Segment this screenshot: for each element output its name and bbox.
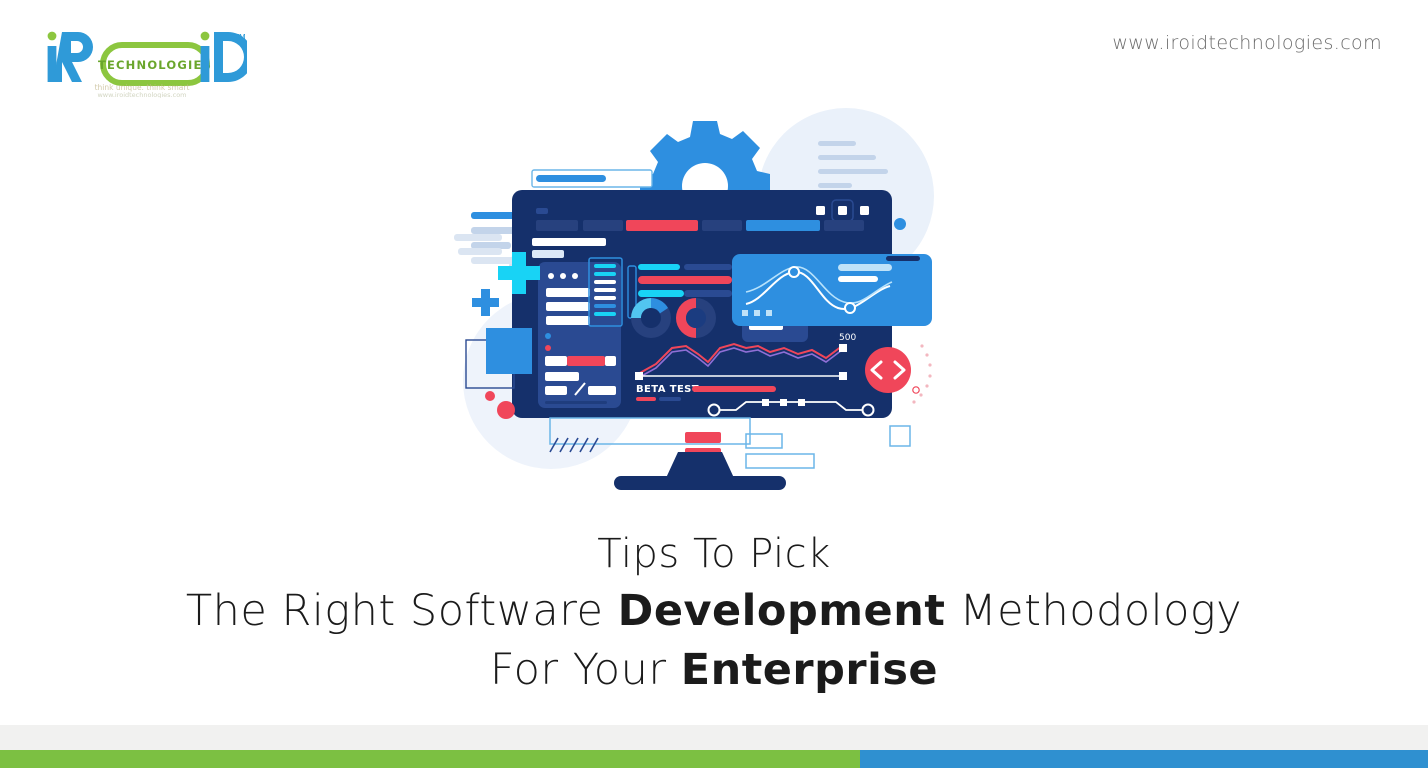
footer-bar-green <box>0 750 860 768</box>
logo-badge-text: TECHNOLOGIES <box>98 58 212 72</box>
screen-tag <box>536 208 548 214</box>
logo-tagline-2: www.iroidtechnologies.com <box>97 91 186 98</box>
page-title: Tips To Pick The Right Software Developm… <box>0 534 1428 692</box>
code-badge-icon <box>865 347 911 393</box>
chart-value-label: 500 <box>839 333 856 343</box>
footer-bar-blue <box>860 750 1428 768</box>
title-line-2-part-1: The Right Software <box>186 586 618 636</box>
decor-dot-right <box>894 218 906 230</box>
trademark-icon: TM <box>233 33 246 42</box>
decor-dot-small <box>485 391 495 401</box>
donut-chart-blue <box>631 298 671 338</box>
title-line-2-part-2: Methodology <box>945 586 1242 636</box>
analytics-panel <box>732 254 932 326</box>
screen-mid-bars <box>638 264 732 297</box>
monitor-stand <box>614 452 786 490</box>
title-line-3-part-1: For Your <box>490 645 681 695</box>
edge-line-2 <box>458 248 502 255</box>
title-line-3-bold: Enterprise <box>681 645 938 695</box>
decor-dot-large <box>497 401 515 419</box>
dashboard-illustration-svg: 500 BETA TEST <box>446 96 966 506</box>
title-line-3: For Your Enterprise <box>0 649 1428 692</box>
decor-square-filled <box>486 328 532 374</box>
hero-illustration: 500 BETA TEST <box>446 96 966 506</box>
site-url[interactable]: www.iroidtechnologies.com <box>1112 32 1382 54</box>
title-line-2: The Right Software Development Methodolo… <box>0 590 1428 633</box>
decor-bar-right <box>886 256 920 261</box>
toolbar-white-bar-1 <box>532 238 606 246</box>
progress-pill <box>532 170 652 187</box>
donut-chart-red <box>676 298 716 338</box>
decor-square-right <box>890 426 910 446</box>
decor-plus-blue <box>472 289 499 316</box>
beta-test-text: BETA TEST <box>636 384 699 395</box>
edge-line-1 <box>454 234 502 241</box>
company-logo[interactable]: TECHNOLOGIES TM think unique. think smar… <box>42 26 247 98</box>
title-line-1: Tips To Pick <box>0 534 1428 574</box>
toolbar-white-bar-2 <box>532 250 564 258</box>
dotted-arc <box>912 344 931 403</box>
title-line-2-bold: Development <box>618 586 946 636</box>
slide-canvas: TECHNOLOGIES TM think unique. think smar… <box>0 0 1428 768</box>
logo-mark: TECHNOLOGIES TM think unique. think smar… <box>42 26 247 98</box>
